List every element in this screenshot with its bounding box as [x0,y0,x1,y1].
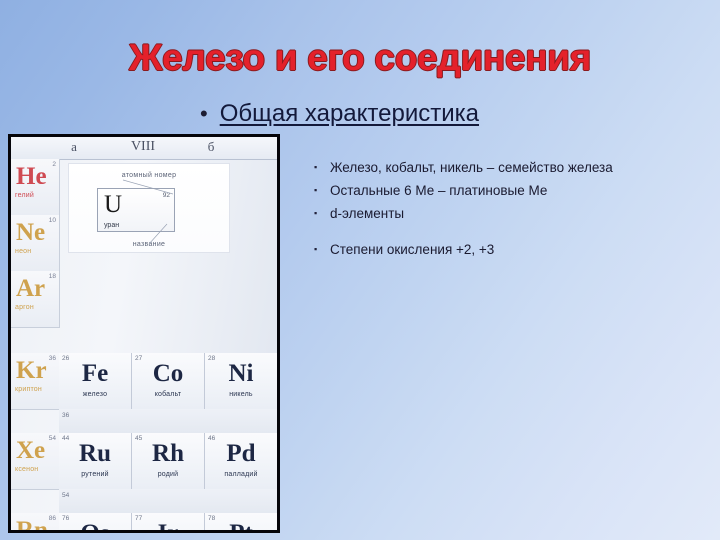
element-cell-he: 2 He гелий [11,159,60,216]
periodic-table-image: а VIII б 2 He гелий 10 Ne неон 18 Ar арг… [8,134,280,533]
element-symbol: Ru [59,440,131,468]
legend-callout: атомный номер 92 U уран название [68,163,230,253]
atomic-number: 36 [62,412,69,419]
element-symbol: Os [59,520,131,533]
spacer-row: 36 [59,409,277,434]
element-name: неон [15,248,31,255]
element-symbol: He [16,163,47,191]
element-name: кобальт [132,391,204,398]
legend-element-name: уран [104,222,119,229]
slide-canvas: Железо и его соединения • Общая характер… [0,0,720,540]
element-symbol: Pd [205,440,277,468]
list-item: ▪ Железо, кобальт, никель – семейство же… [314,158,664,177]
spacer-row: 54 [59,489,277,514]
element-name: палладий [205,471,277,478]
element-symbol: Xe [16,437,45,465]
atomic-number: 86 [49,515,56,522]
element-cell-ne: 10 Ne неон [11,215,60,272]
list-item: ▪ Остальные 6 Ме – платиновые Ме [314,181,664,200]
element-cell-ar: 18 Ar аргон [11,271,60,328]
element-cell-rn: 86 Rn радон [11,513,60,533]
element-name: родий [132,471,204,478]
atomic-number: 54 [62,492,69,499]
legend-atomic-number: 92 [163,192,170,199]
element-cell-xe: 54 Xe ксенон [11,433,60,490]
group-label-a: а [59,139,89,155]
square-bullet-icon: ▪ [314,204,330,223]
group-label-viii: VIII [121,139,165,155]
table-row: 44 Ru рутений 45 Rh родий 46 Pd палладий [59,433,277,490]
square-bullet-icon: ▪ [314,240,330,259]
legend-element-symbol: U [104,191,122,219]
atomic-number: 54 [49,435,56,442]
subtitle-bullet-icon: • [200,103,208,125]
square-bullet-icon: ▪ [314,158,330,177]
element-cell-fe: 26 Fe железо [59,353,132,409]
element-name: железо [59,391,131,398]
square-bullet-icon: ▪ [314,181,330,200]
element-cell-co: 27 Co кобальт [132,353,205,409]
element-symbol: Kr [16,357,47,385]
subtitle-text: Общая характеристика [220,100,479,128]
element-cell-os: 76 Os осмий [59,513,132,533]
element-cell-rh: 45 Rh родий [132,433,205,489]
periodic-table-content: а VIII б 2 He гелий 10 Ne неон 18 Ar арг… [11,137,277,530]
group-header-row: а VIII б [11,137,277,160]
list-item-label: Остальные 6 Ме – платиновые Ме [330,181,664,200]
element-cell-ni: 28 Ni никель [205,353,277,409]
atomic-number: 2 [52,161,56,168]
list-item-label: d-элементы [330,204,664,223]
element-symbol: Ni [205,360,277,388]
element-symbol: Rh [132,440,204,468]
element-name: ксенон [15,466,38,473]
atomic-number: 10 [49,217,56,224]
element-symbol: Co [132,360,204,388]
element-symbol: Ir [132,520,204,533]
legend-element-cell: 92 U уран [97,188,175,232]
atomic-number: 18 [49,273,56,280]
element-cell-pd: 46 Pd палладий [205,433,277,489]
element-cell-pt: 78 Pt платина [205,513,277,533]
legend-name-label: название [69,241,229,248]
element-symbol: Pt [205,520,277,533]
element-name: аргон [15,304,34,311]
list-item-label: Железо, кобальт, никель – семейство желе… [330,158,664,177]
table-row: 76 Os осмий 77 Ir иридий 78 Pt платина [59,513,277,533]
element-name: гелий [15,192,34,199]
list-item-label: Степени окисления +2, +3 [330,240,664,259]
subtitle-row: • Общая характеристика [200,100,479,128]
element-name: никель [205,391,277,398]
element-symbol: Ar [16,275,45,303]
bullet-list: ▪ Железо, кобальт, никель – семейство же… [314,158,664,263]
element-cell-kr: 36 Kr криптон [11,353,60,410]
atomic-number: 36 [49,355,56,362]
table-row: 26 Fe железо 27 Co кобальт 28 Ni никель [59,353,277,410]
legend-atomic-number-label: атомный номер [69,172,229,179]
group-label-b: б [196,139,226,155]
element-name: рутений [59,471,131,478]
list-item: ▪ Степени окисления +2, +3 [314,240,664,259]
element-cell-ru: 44 Ru рутений [59,433,132,489]
element-symbol: Ne [16,219,45,247]
element-cell-ir: 77 Ir иридий [132,513,205,533]
element-name: криптон [15,386,42,393]
element-symbol: Rn [16,517,48,533]
list-item: ▪ d-элементы [314,204,664,223]
slide-title: Железо и его соединения [0,36,720,80]
element-symbol: Fe [59,360,131,388]
